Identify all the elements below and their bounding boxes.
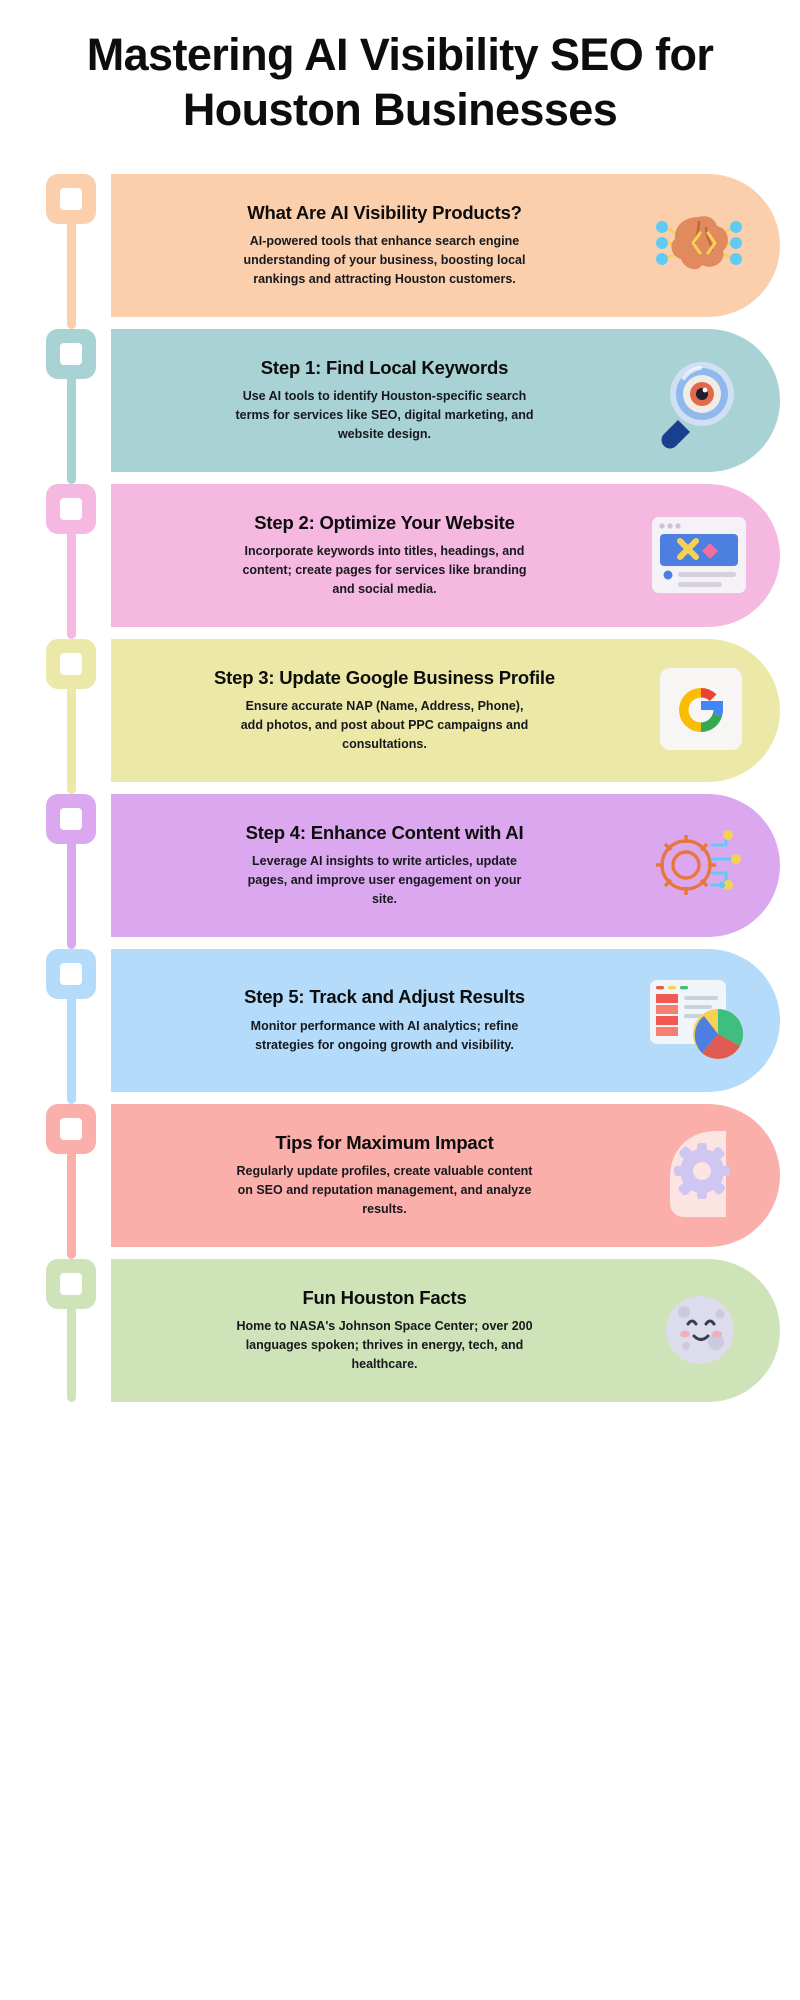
step-title-3: Step 2: Optimize Your Website [254,512,514,535]
ai-brain-network-icon [644,195,754,295]
step-card-7[interactable]: Tips for Maximum Impact Regularly update… [111,1104,780,1247]
step-card-3[interactable]: Step 2: Optimize Your Website Incorporat… [111,484,780,627]
timeline-node-8[interactable] [46,1259,96,1309]
step-title-6: Step 5: Track and Adjust Results [244,986,525,1009]
timeline-step-6[interactable]: Step 5: Track and Adjust Results Monitor… [46,949,800,1092]
node-square-icon [60,808,82,830]
timeline-step-4[interactable]: Step 3: Update Google Business Profile E… [46,639,800,782]
step-card-6[interactable]: Step 5: Track and Adjust Results Monitor… [111,949,780,1092]
step-body-7: Regularly update profiles, create valuab… [235,1162,535,1218]
step-title-8: Fun Houston Facts [302,1287,466,1310]
step-card-8[interactable]: Fun Houston Facts Home to NASA's Johnson… [111,1259,780,1402]
timeline-node-7[interactable] [46,1104,96,1154]
timeline-step-7[interactable]: Tips for Maximum Impact Regularly update… [46,1104,800,1247]
smiling-moon-face-icon [644,1280,754,1380]
step-title-2: Step 1: Find Local Keywords [261,357,508,380]
step-title-5: Step 4: Enhance Content with AI [246,822,524,845]
step-title-1: What Are AI Visibility Products? [247,202,522,225]
google-logo-icon [644,660,754,760]
timeline-node-6[interactable] [46,949,96,999]
timeline-node-2[interactable] [46,329,96,379]
browser-window-design-icon [644,505,754,605]
node-square-icon [60,1118,82,1140]
page-title-block: Mastering AI Visibility SEO for Houston … [0,0,800,138]
step-body-2: Use AI tools to identify Houston-specifi… [235,387,535,443]
step-card-1[interactable]: What Are AI Visibility Products? AI-powe… [111,174,780,317]
timeline-node-4[interactable] [46,639,96,689]
magnifying-glass-search-icon [644,350,754,450]
step-body-8: Home to NASA's Johnson Space Center; ove… [235,1317,535,1373]
step-body-4: Ensure accurate NAP (Name, Address, Phon… [235,697,535,753]
step-card-2[interactable]: Step 1: Find Local Keywords Use AI tools… [111,329,780,472]
step-body-5: Leverage AI insights to write articles, … [235,852,535,908]
node-square-icon [60,1273,82,1295]
step-body-1: AI-powered tools that enhance search eng… [235,232,535,288]
step-title-7: Tips for Maximum Impact [275,1132,493,1155]
step-body-3: Incorporate keywords into titles, headin… [235,542,535,598]
timeline-step-1[interactable]: What Are AI Visibility Products? AI-powe… [46,174,800,317]
timeline-step-2[interactable]: Step 1: Find Local Keywords Use AI tools… [46,329,800,472]
timeline-node-5[interactable] [46,794,96,844]
node-square-icon [60,188,82,210]
step-card-5[interactable]: Step 4: Enhance Content with AI Leverage… [111,794,780,937]
timeline-step-5[interactable]: Step 4: Enhance Content with AI Leverage… [46,794,800,937]
head-gear-thinking-icon [644,1125,754,1225]
node-square-icon [60,498,82,520]
timeline-node-1[interactable] [46,174,96,224]
node-square-icon [60,963,82,985]
node-square-icon [60,343,82,365]
node-square-icon [60,653,82,675]
step-title-4: Step 3: Update Google Business Profile [214,667,555,690]
timeline-step-3[interactable]: Step 2: Optimize Your Website Incorporat… [46,484,800,627]
step-body-6: Monitor performance with AI analytics; r… [235,1017,535,1055]
analytics-dashboard-chart-icon [644,970,754,1070]
timeline-step-8[interactable]: Fun Houston Facts Home to NASA's Johnson… [46,1259,800,1402]
gear-circuit-ai-icon [644,815,754,915]
page-title: Mastering AI Visibility SEO for Houston … [60,28,740,138]
timeline-node-3[interactable] [46,484,96,534]
timeline: What Are AI Visibility Products? AI-powe… [0,174,800,1402]
step-card-4[interactable]: Step 3: Update Google Business Profile E… [111,639,780,782]
